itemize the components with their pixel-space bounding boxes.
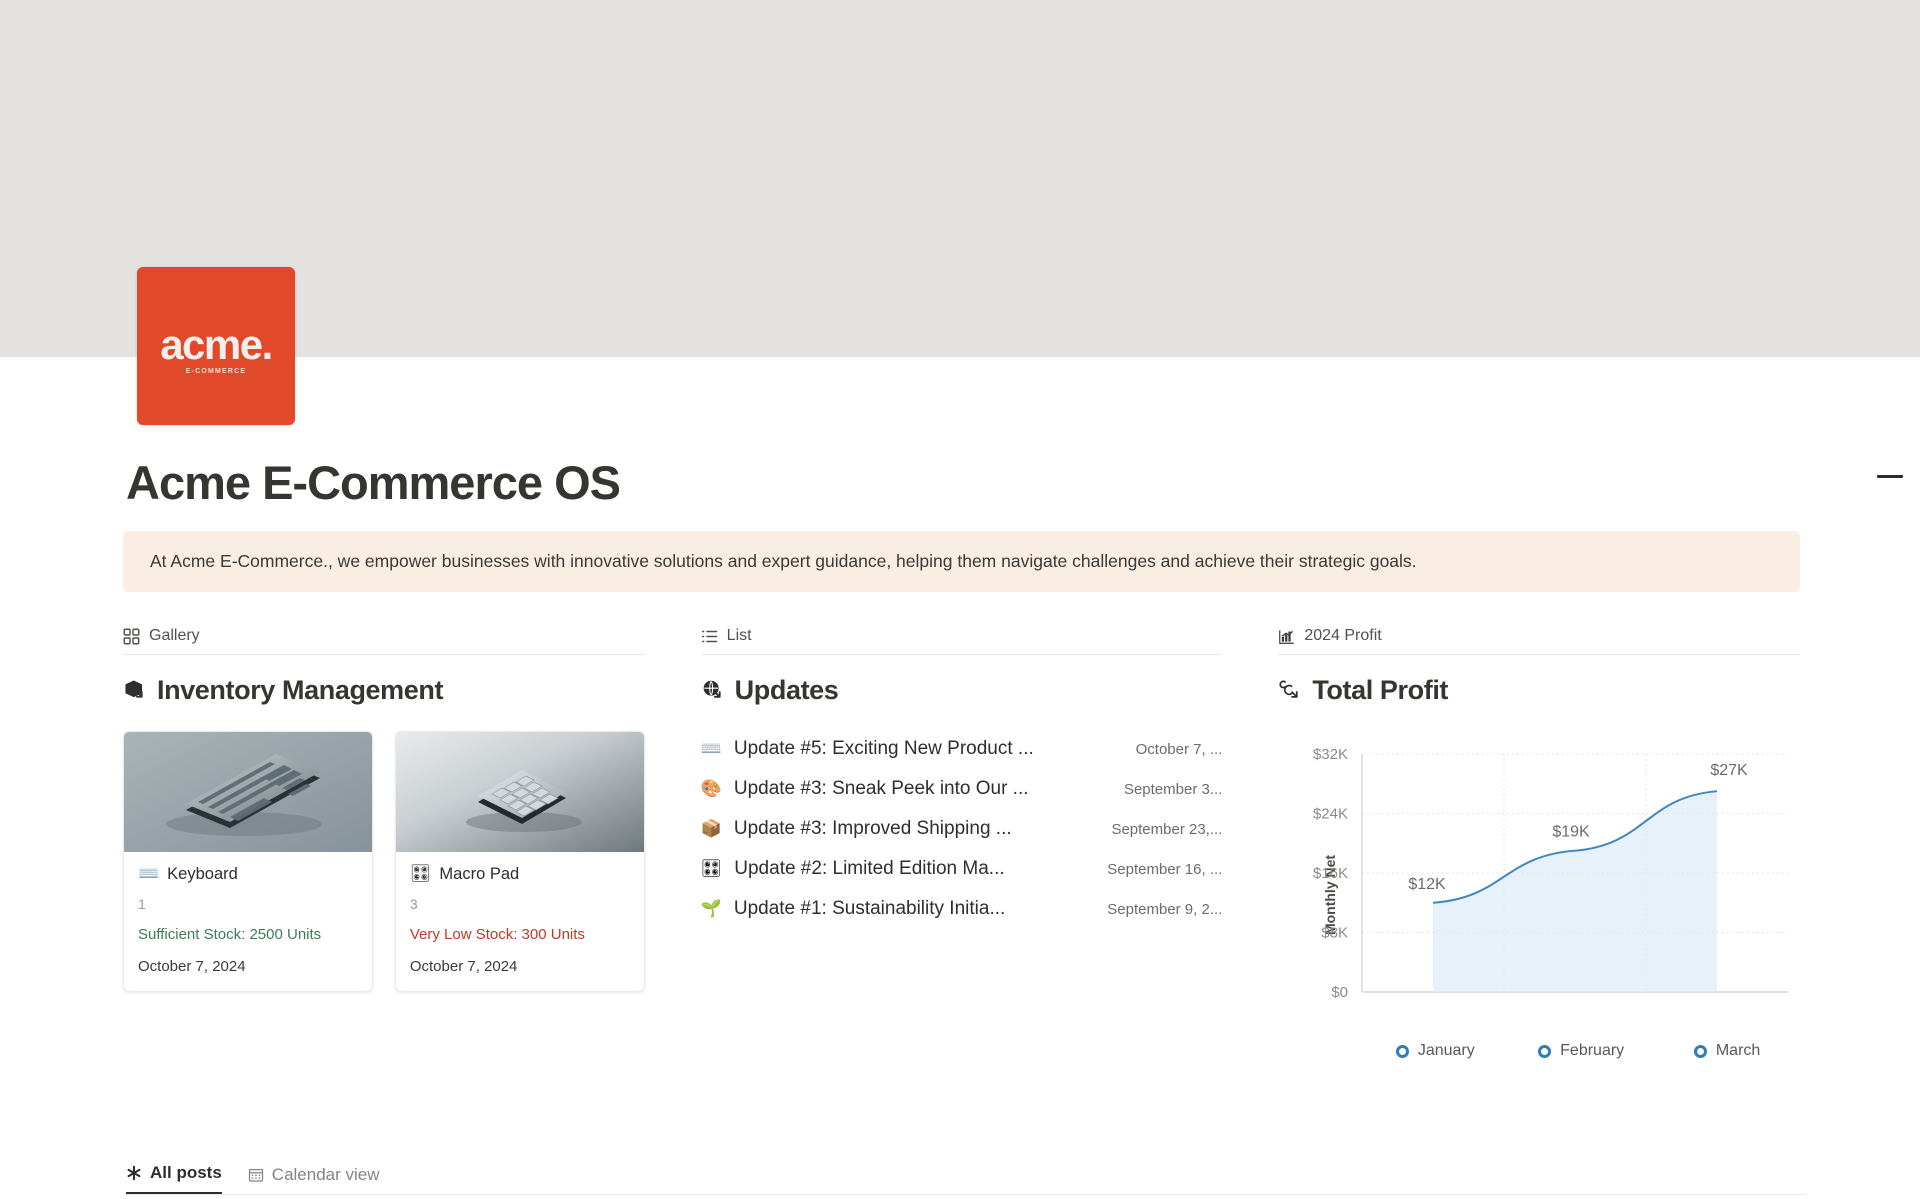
page-icon-wordmark: acme. bbox=[137, 324, 295, 366]
list-item-title: Update #5: Exciting New Product ... bbox=[734, 738, 1124, 760]
gallery-card-stock: Sufficient Stock: 2500 Units bbox=[138, 926, 358, 943]
svg-text:$27K: $27K bbox=[1711, 762, 1749, 779]
gallery-card-stock: Very Low Stock: 300 Units bbox=[410, 926, 630, 943]
page-icon[interactable]: acme. E-COMMERCE bbox=[137, 267, 295, 425]
list-item[interactable]: 🎨 Update #3: Sneak Peek into Our ... Sep… bbox=[701, 769, 1223, 809]
svg-text:$8K: $8K bbox=[1322, 925, 1349, 942]
list-item[interactable]: 🎛 Update #2: Limited Edition Ma... Septe… bbox=[701, 849, 1223, 889]
chart-legend: January February March bbox=[1278, 1034, 1800, 1060]
legend-item[interactable]: March bbox=[1654, 1042, 1800, 1060]
gallery-card-name-row: ⌨️ Keyboard bbox=[138, 864, 358, 884]
svg-text:$12K: $12K bbox=[1409, 876, 1447, 893]
list-item-date: September 3... bbox=[1124, 781, 1222, 798]
tab-calendar-view-label: Calendar view bbox=[272, 1165, 380, 1185]
gallery-card[interactable]: ⌨️ Keyboard 1 Sufficient Stock: 2500 Uni… bbox=[123, 731, 373, 992]
package-link-icon bbox=[123, 679, 146, 702]
list-view-label: List bbox=[727, 627, 752, 645]
legend-dot-icon bbox=[1396, 1045, 1409, 1058]
legend-item[interactable]: January bbox=[1362, 1042, 1508, 1060]
profit-database-title[interactable]: Total Profit bbox=[1278, 675, 1800, 706]
legend-label: February bbox=[1560, 1042, 1624, 1060]
list-item[interactable]: 🌱 Update #1: Sustainability Initia... Se… bbox=[701, 889, 1223, 929]
inventory-database-label: Inventory Management bbox=[157, 675, 443, 706]
chart-canvas: $0$8K$16K$24K$32K$12K$19K$27K bbox=[1278, 730, 1800, 1030]
tab-all-posts[interactable]: All posts bbox=[126, 1163, 222, 1194]
gallery-view-bar[interactable]: Gallery bbox=[123, 626, 645, 655]
globe-link-icon bbox=[701, 679, 724, 702]
list-item[interactable]: ⌨️ Update #5: Exciting New Product ... O… bbox=[701, 729, 1223, 769]
legend-item[interactable]: February bbox=[1508, 1042, 1654, 1060]
svg-text:$32K: $32K bbox=[1313, 746, 1348, 763]
tab-calendar-view[interactable]: Calendar view bbox=[248, 1165, 380, 1194]
column-layout: Gallery Inventory Management bbox=[123, 626, 1800, 1060]
gallery-card-name-row: 🎛 Macro Pad bbox=[410, 864, 630, 884]
legend-dot-icon bbox=[1538, 1045, 1551, 1058]
list-column: List Updates ⌨️ Update #5: Exciting New … bbox=[701, 626, 1223, 1060]
page-title[interactable]: Acme E-Commerce OS bbox=[126, 455, 620, 510]
gallery-card-body: 🎛 Macro Pad 3 Very Low Stock: 300 Units … bbox=[396, 852, 644, 991]
gallery-card-title: Keyboard bbox=[167, 865, 238, 884]
svg-text:$19K: $19K bbox=[1553, 824, 1591, 841]
list-item-title: Update #2: Limited Edition Ma... bbox=[734, 858, 1095, 880]
updates-list: ⌨️ Update #5: Exciting New Product ... O… bbox=[701, 729, 1223, 929]
list-item-date: September 9, 2... bbox=[1107, 901, 1222, 918]
gallery-card-number: 3 bbox=[410, 896, 630, 912]
svg-text:$16K: $16K bbox=[1313, 865, 1348, 882]
legend-label: January bbox=[1418, 1042, 1475, 1060]
list-item-title: Update #3: Sneak Peek into Our ... bbox=[734, 778, 1112, 800]
page-icon-subtext: E-COMMERCE bbox=[137, 368, 295, 375]
svg-text:$0: $0 bbox=[1332, 984, 1349, 1001]
control-knobs-emoji-icon: 🎛 bbox=[701, 859, 723, 879]
palette-emoji-icon: 🎨 bbox=[701, 779, 722, 799]
gallery-card-number: 1 bbox=[138, 896, 358, 912]
callout-block: At Acme E-Commerce., we empower business… bbox=[123, 531, 1800, 592]
chart-view-bar[interactable]: 2024 Profit bbox=[1278, 626, 1800, 655]
updates-database-title[interactable]: Updates bbox=[701, 675, 1223, 706]
list-icon bbox=[701, 628, 718, 645]
seedling-emoji-icon: 🌱 bbox=[701, 899, 722, 919]
gallery-card-title: Macro Pad bbox=[439, 865, 519, 884]
gallery-card[interactable]: 🎛 Macro Pad 3 Very Low Stock: 300 Units … bbox=[395, 731, 645, 992]
list-item[interactable]: 📦 Update #3: Improved Shipping ... Septe… bbox=[701, 809, 1223, 849]
calendar-icon bbox=[248, 1167, 264, 1183]
keyboard-emoji-icon: ⌨️ bbox=[701, 739, 722, 759]
profit-database-label: Total Profit bbox=[1312, 675, 1448, 706]
gallery-cards: ⌨️ Keyboard 1 Sufficient Stock: 2500 Uni… bbox=[123, 731, 645, 992]
svg-text:$24K: $24K bbox=[1313, 806, 1348, 823]
minus-icon-bar bbox=[1877, 475, 1903, 478]
macro-pad-photo bbox=[396, 732, 644, 852]
list-item-title: Update #3: Improved Shipping ... bbox=[734, 818, 1100, 840]
list-item-date: September 16, ... bbox=[1107, 861, 1222, 878]
bottom-tabs: All posts Calendar view bbox=[126, 1163, 1806, 1195]
callout-text: At Acme E-Commerce., we empower business… bbox=[150, 549, 1417, 574]
keyboard-emoji-icon: ⌨️ bbox=[138, 864, 159, 884]
gallery-card-date: October 7, 2024 bbox=[138, 958, 358, 975]
inventory-database-title[interactable]: Inventory Management bbox=[123, 675, 645, 706]
list-item-date: September 23,... bbox=[1111, 821, 1222, 838]
chart-view-label: 2024 Profit bbox=[1304, 627, 1381, 645]
gallery-view-label: Gallery bbox=[149, 627, 200, 645]
macro-pad-emoji-icon: 🎛 bbox=[410, 864, 432, 884]
asterisk-icon bbox=[126, 1165, 142, 1181]
legend-label: March bbox=[1716, 1042, 1760, 1060]
profit-chart: Monthly Net $0$8K$16K$24K$32K$12K$19K$27… bbox=[1278, 730, 1800, 1060]
gallery-card-body: ⌨️ Keyboard 1 Sufficient Stock: 2500 Uni… bbox=[124, 852, 372, 991]
bar-chart-icon bbox=[1278, 628, 1295, 645]
package-emoji-icon: 📦 bbox=[701, 819, 722, 839]
minus-icon[interactable] bbox=[1873, 466, 1907, 486]
legend-dot-icon bbox=[1694, 1045, 1707, 1058]
grid-icon bbox=[123, 628, 140, 645]
list-item-date: October 7, ... bbox=[1136, 741, 1223, 758]
gallery-column: Gallery Inventory Management bbox=[123, 626, 645, 1060]
updates-database-label: Updates bbox=[735, 675, 839, 706]
currency-link-icon bbox=[1278, 679, 1301, 702]
gallery-card-date: October 7, 2024 bbox=[410, 958, 630, 975]
list-view-bar[interactable]: List bbox=[701, 626, 1223, 655]
keyboard-photo bbox=[124, 732, 372, 852]
chart-column: 2024 Profit Total Profit Monthly Net $0$… bbox=[1278, 626, 1800, 1060]
list-item-title: Update #1: Sustainability Initia... bbox=[734, 898, 1095, 920]
tab-all-posts-label: All posts bbox=[150, 1163, 222, 1183]
